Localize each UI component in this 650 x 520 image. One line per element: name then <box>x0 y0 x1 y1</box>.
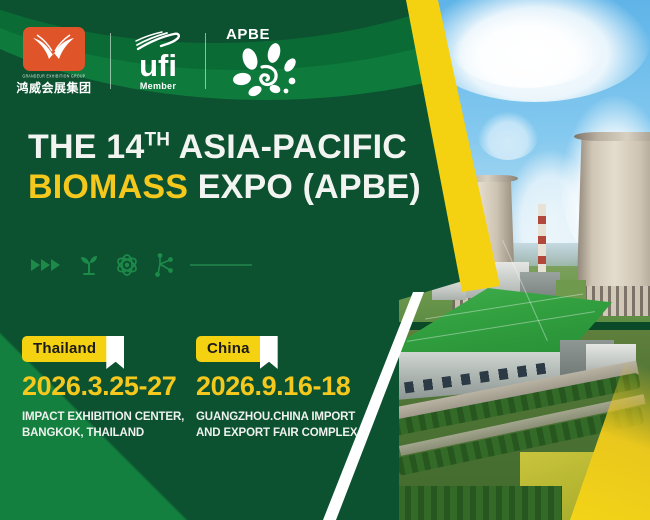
apbe-wordmark: APBE <box>226 26 270 43</box>
title-line-1: THE 14TH ASIA-PACIFIC <box>28 128 448 168</box>
sprout-plant-icon <box>76 252 102 278</box>
logo-divider-2 <box>205 33 206 89</box>
grandeur-logo[interactable]: GRANDEUR EXHIBITION GROUP 鸿威会展集团 <box>14 27 94 96</box>
title-line-2-rest: EXPO (APBE) <box>188 168 421 206</box>
ufi-logo[interactable]: ufi Member <box>127 31 189 91</box>
apbe-expo-banner: GRANDEUR EXHIBITION GROUP 鸿威会展集团 ufi Mem… <box>0 0 650 520</box>
country-tag-china[interactable]: China <box>196 336 276 362</box>
title-ordinal-suffix: TH <box>144 130 170 151</box>
country-tag-thailand[interactable]: Thailand <box>22 336 122 362</box>
event-venue-thailand: IMPACT EXHIBITION CENTER, BANGKOK, THAIL… <box>22 409 194 442</box>
logo-divider-1 <box>110 33 111 89</box>
strip-divider-rule <box>190 264 252 266</box>
cooling-tower-right <box>576 136 650 316</box>
event-date-china: 2026.9.16-18 <box>196 371 368 402</box>
ufi-wordmark: ufi <box>139 53 177 78</box>
grandeur-chinese-name: 鸿威会展集团 <box>16 79 91 96</box>
event-block-thailand: Thailand 2026.3.25-27 IMPACT EXHIBITION … <box>22 336 194 442</box>
apbe-logo[interactable]: APBE <box>222 26 306 97</box>
title-line-1-pre: THE 14 <box>28 128 144 166</box>
title-line-2: BIOMASS EXPO (APBE) <box>28 168 448 208</box>
atom-icon <box>114 252 140 278</box>
logo-bar: GRANDEUR EXHIBITION GROUP 鸿威会展集团 ufi Mem… <box>14 22 306 100</box>
ufi-member-label: Member <box>140 81 176 91</box>
icon-strip <box>30 252 252 278</box>
title-highlight-biomass: BIOMASS <box>28 168 188 206</box>
event-block-china: China 2026.9.16-18 GUANGZHOU.CHINA IMPOR… <box>196 336 368 442</box>
grandeur-english-name: GRANDEUR EXHIBITION GROUP <box>23 73 86 78</box>
cooling-tower-right-rim <box>574 132 650 141</box>
page-title: THE 14TH ASIA-PACIFIC BIOMASS EXPO (APBE… <box>28 128 448 208</box>
event-date-thailand: 2026.3.25-27 <box>22 371 194 402</box>
title-line-1-post: ASIA-PACIFIC <box>170 128 407 166</box>
apbe-leaf-petals-mark <box>222 43 306 97</box>
event-venue-china: GUANGZHOU.CHINA IMPORT AND EXPORT FAIR C… <box>196 409 368 442</box>
phoenix-wings-mark <box>23 27 85 71</box>
molecule-icon <box>152 252 178 278</box>
triple-arrow-icon <box>30 257 64 273</box>
treeline-bottom <box>392 486 562 520</box>
